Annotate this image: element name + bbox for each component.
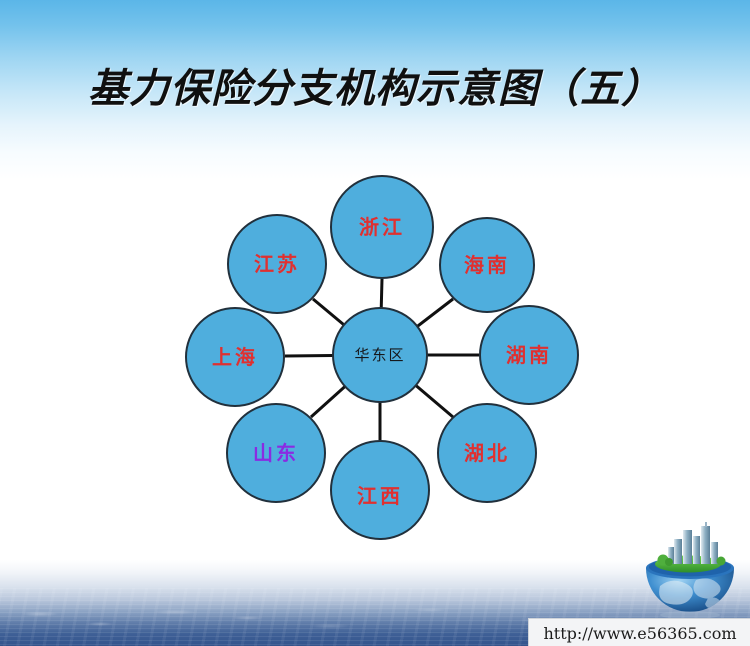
node-shanghai[interactable]: 上海: [185, 307, 285, 407]
node-jiangsu[interactable]: 江苏: [227, 214, 327, 314]
node-jiangxi[interactable]: 江西: [330, 440, 430, 540]
page-title: 基力保险分支机构示意图（五）: [0, 56, 750, 114]
node-label: 浙江: [359, 217, 405, 237]
globe-city-buildings: [668, 522, 718, 564]
node-label: 山东: [253, 443, 299, 463]
node-hunan[interactable]: 湖南: [479, 305, 579, 405]
footer-url-text[interactable]: http://www.e56365.com: [543, 624, 736, 643]
node-shandong[interactable]: 山东: [226, 403, 326, 503]
earth-city-globe-logo: [638, 520, 742, 620]
node-hubei[interactable]: 湖北: [437, 403, 537, 503]
node-huadong-center[interactable]: 华东区: [332, 307, 428, 403]
node-label: 上海: [212, 347, 258, 367]
node-label: 江西: [357, 486, 403, 506]
slide-canvas: 基力保险分支机构示意图（五） 浙江 海南 湖南 湖北: [0, 0, 750, 646]
node-label: 湖北: [464, 443, 510, 463]
node-label: 海南: [464, 255, 510, 275]
node-zhejiang[interactable]: 浙江: [330, 175, 434, 279]
node-label: 华东区: [354, 348, 405, 363]
footer-url-bar: http://www.e56365.com: [528, 618, 750, 646]
node-label: 湖南: [506, 345, 552, 365]
node-hainan[interactable]: 海南: [439, 217, 535, 313]
node-label: 江苏: [254, 254, 300, 274]
org-structure-diagram: 浙江 海南 湖南 湖北 江西 山东 上海 江苏 华东区: [185, 165, 575, 525]
